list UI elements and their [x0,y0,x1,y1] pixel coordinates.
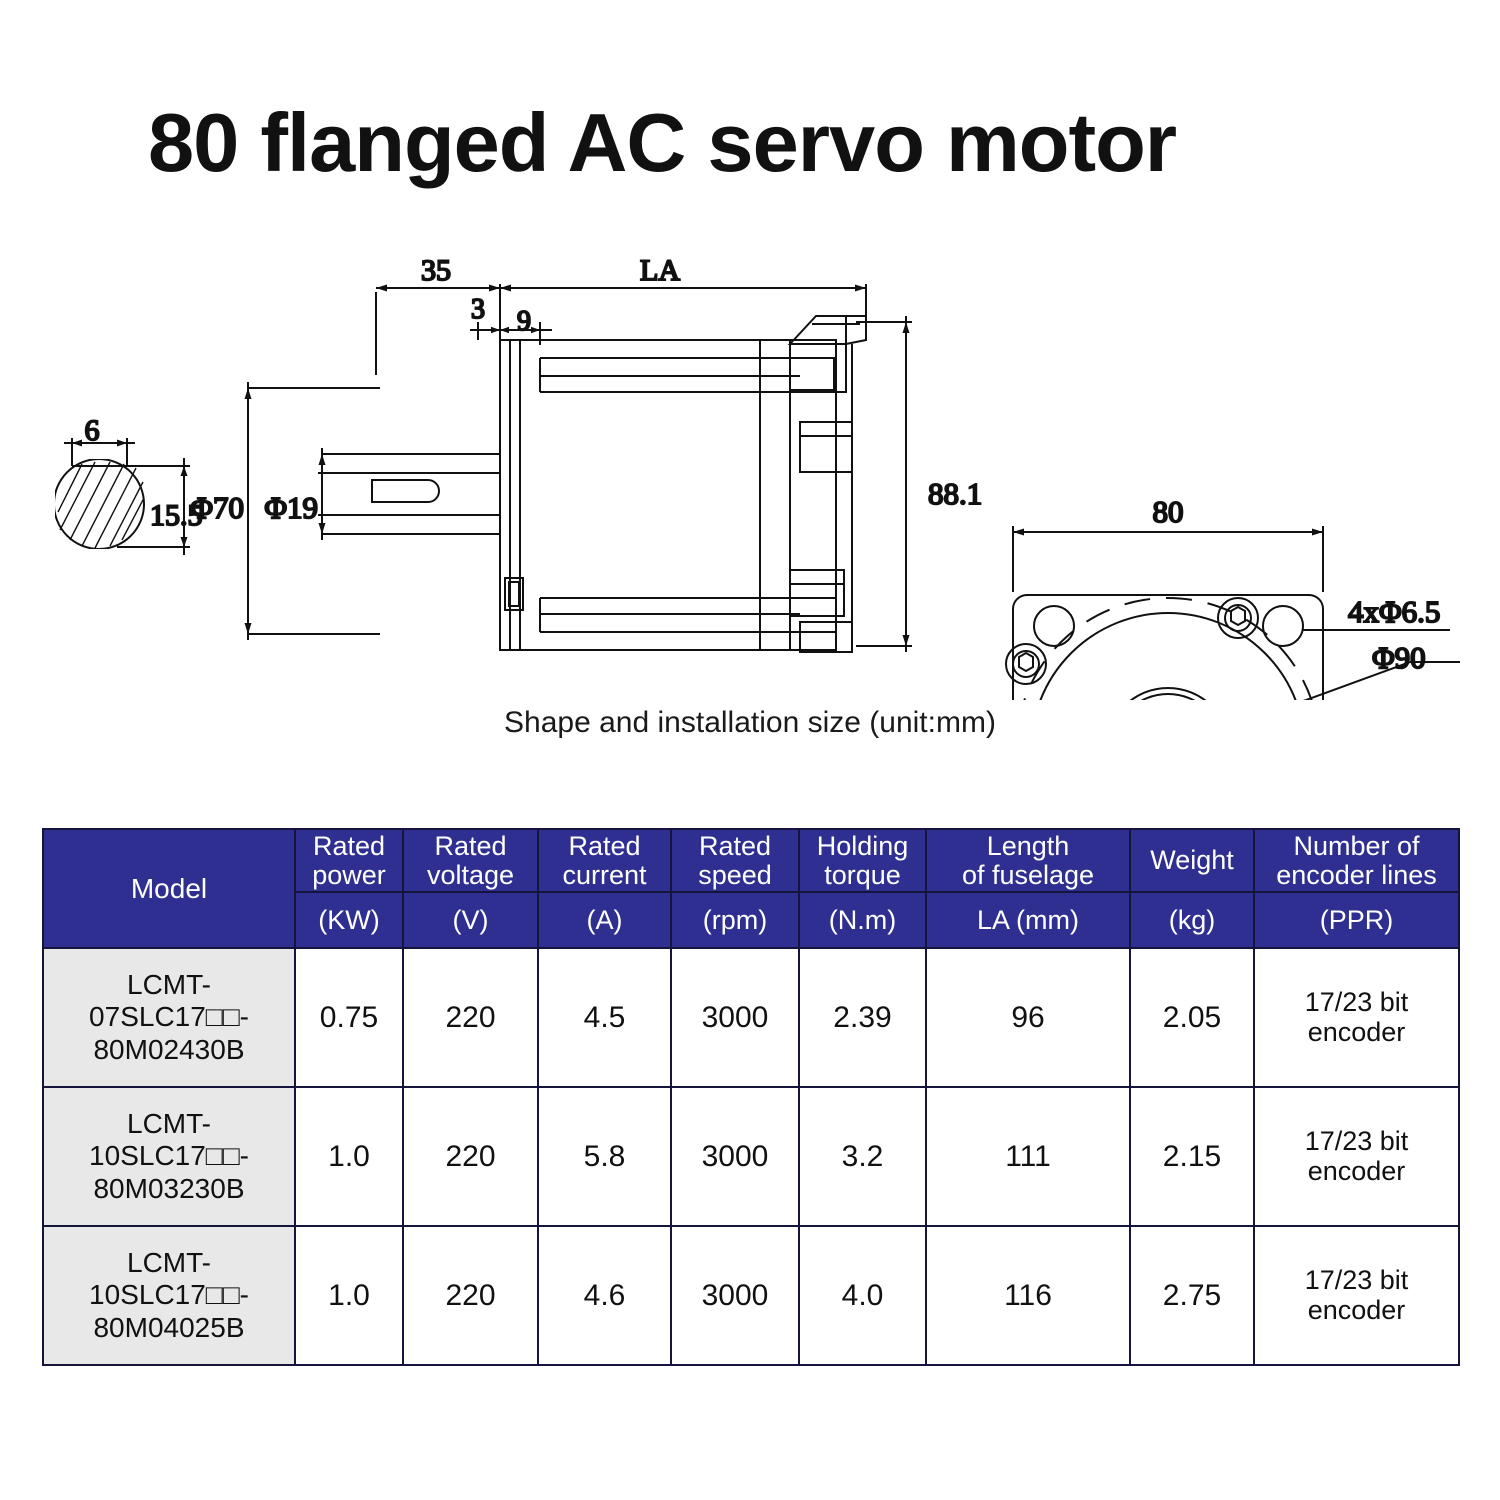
header-weight: Weight [1130,829,1254,892]
header-number-of-encoder-lines: Number of encoder lines [1254,829,1459,892]
cell-holding-torque: 2.39 [799,948,926,1087]
table-row: LCMT- 10SLC17□□- 80M03230B 1.0 220 5.8 3… [43,1087,1459,1226]
unit-rated-voltage: (V) [403,892,538,948]
cell-weight: 2.15 [1130,1087,1254,1226]
model-line-1: LCMT- [127,1108,211,1139]
cell-model: LCMT- 10SLC17□□- 80M03230B [43,1087,295,1226]
cell-encoder: 17/23 bit encoder [1254,1087,1459,1226]
header-rated-current: Rated current [538,829,671,892]
header-line-2: voltage [427,860,514,890]
encoder-line-2: encoder [1308,1295,1406,1325]
spec-table-wrap: Model Rated power Rated voltage Rated cu… [42,828,1458,1366]
table-row: LCMT- 10SLC17□□- 80M04025B 1.0 220 4.6 3… [43,1226,1459,1365]
cell-length-la: 111 [926,1087,1130,1226]
unit-number-of-encoder-lines: (PPR) [1254,892,1459,948]
header-line-1: Weight [1150,845,1234,875]
model-line-3: 80M02430B [93,1034,244,1065]
cell-rated-power: 0.75 [295,948,403,1087]
model-line-1: LCMT- [127,969,211,1000]
header-rated-speed: Rated speed [671,829,799,892]
cell-weight: 2.75 [1130,1226,1254,1365]
header-line-2: current [562,860,646,890]
spec-table: Model Rated power Rated voltage Rated cu… [42,828,1460,1366]
table-row: LCMT- 07SLC17□□- 80M02430B 0.75 220 4.5 … [43,948,1459,1087]
dim-keyway-width: 6 [85,414,100,447]
cell-encoder: 17/23 bit encoder [1254,948,1459,1087]
model-line-2: 10SLC17□□- [89,1279,249,1310]
cell-rated-voltage: 220 [403,1226,538,1365]
cell-rated-power: 1.0 [295,1087,403,1226]
encoder-line-2: encoder [1308,1017,1406,1047]
model-line-3: 80M03230B [93,1173,244,1204]
header-line-2: power [312,860,386,890]
header-row-names: Model Rated power Rated voltage Rated cu… [43,829,1459,892]
unit-rated-power: (KW) [295,892,403,948]
dim-step-a: 3 [471,294,485,325]
header-rated-power: Rated power [295,829,403,892]
dim-flange-thickness: 35 [421,254,451,287]
drawing-svg: 6 15.5 [0,240,1500,700]
drawing-caption: Shape and installation size (unit:mm) [0,706,1500,740]
cell-holding-torque: 4.0 [799,1226,926,1365]
header-line-2: torque [824,860,901,890]
encoder-line-1: 17/23 bit [1305,1126,1409,1156]
cell-rated-current: 4.5 [538,948,671,1087]
dim-flange-diameter: Φ70 [190,490,244,525]
dim-body-length-la: LA [640,254,680,287]
model-line-3: 80M04025B [93,1312,244,1343]
unit-holding-torque: (N.m) [799,892,926,948]
unit-rated-speed: (rpm) [671,892,799,948]
header-line-1: Length [987,831,1070,861]
dim-bolt-holes: 4xΦ6.5 [1348,594,1440,629]
technical-drawing: 6 15.5 [0,240,1500,700]
cell-rated-current: 5.8 [538,1087,671,1226]
header-rated-voltage: Rated voltage [403,829,538,892]
dim-body-height: 88.1 [928,476,982,511]
cell-rated-speed: 3000 [671,1226,799,1365]
header-line-1: Number of [1293,831,1419,861]
header-line-2: speed [698,860,772,890]
cell-rated-voltage: 220 [403,1087,538,1226]
cell-weight: 2.05 [1130,948,1254,1087]
encoder-line-2: encoder [1308,1156,1406,1186]
cell-holding-torque: 3.2 [799,1087,926,1226]
model-line-1: LCMT- [127,1247,211,1278]
header-line-2: of fuselage [962,860,1094,890]
header-holding-torque: Holding torque [799,829,926,892]
cell-rated-current: 4.6 [538,1226,671,1365]
cell-rated-power: 1.0 [295,1226,403,1365]
cell-encoder: 17/23 bit encoder [1254,1226,1459,1365]
table-body: LCMT- 07SLC17□□- 80M02430B 0.75 220 4.5 … [43,948,1459,1365]
dim-square-size: 80 [1153,494,1184,529]
dim-shaft-diameter: Φ19 [264,490,318,525]
header-line-1: Rated [434,831,506,861]
header-line-1: Rated [313,831,385,861]
model-line-2: 07SLC17□□- [89,1001,249,1032]
unit-weight: (kg) [1130,892,1254,948]
page-title: 80 flanged AC servo motor [148,95,1176,191]
motor-side-view [245,284,913,652]
dim-step-b: 9 [517,306,531,337]
table-header: Model Rated power Rated voltage Rated cu… [43,829,1459,948]
header-line-2: encoder lines [1276,860,1437,890]
cell-rated-speed: 3000 [671,948,799,1087]
header-line-1: Rated [568,831,640,861]
header-line-1: Rated [699,831,771,861]
dim-pilot-diameter: Φ90 [1372,640,1426,675]
cell-rated-voltage: 220 [403,948,538,1087]
header-length-of-fuselage: Length of fuselage [926,829,1130,892]
cell-rated-speed: 3000 [671,1087,799,1226]
unit-rated-current: (A) [538,892,671,948]
unit-length-of-fuselage: LA (mm) [926,892,1130,948]
header-model: Model [43,829,295,948]
cell-length-la: 96 [926,948,1130,1087]
encoder-line-1: 17/23 bit [1305,987,1409,1017]
cell-model: LCMT- 10SLC17□□- 80M04025B [43,1226,295,1365]
datasheet-page: 80 flanged AC servo motor [0,0,1500,1500]
encoder-line-1: 17/23 bit [1305,1265,1409,1295]
header-line-1: Holding [817,831,909,861]
cell-length-la: 116 [926,1226,1130,1365]
model-line-2: 10SLC17□□- [89,1140,249,1171]
cell-model: LCMT- 07SLC17□□- 80M02430B [43,948,295,1087]
shaft-cross-section [54,438,190,555]
